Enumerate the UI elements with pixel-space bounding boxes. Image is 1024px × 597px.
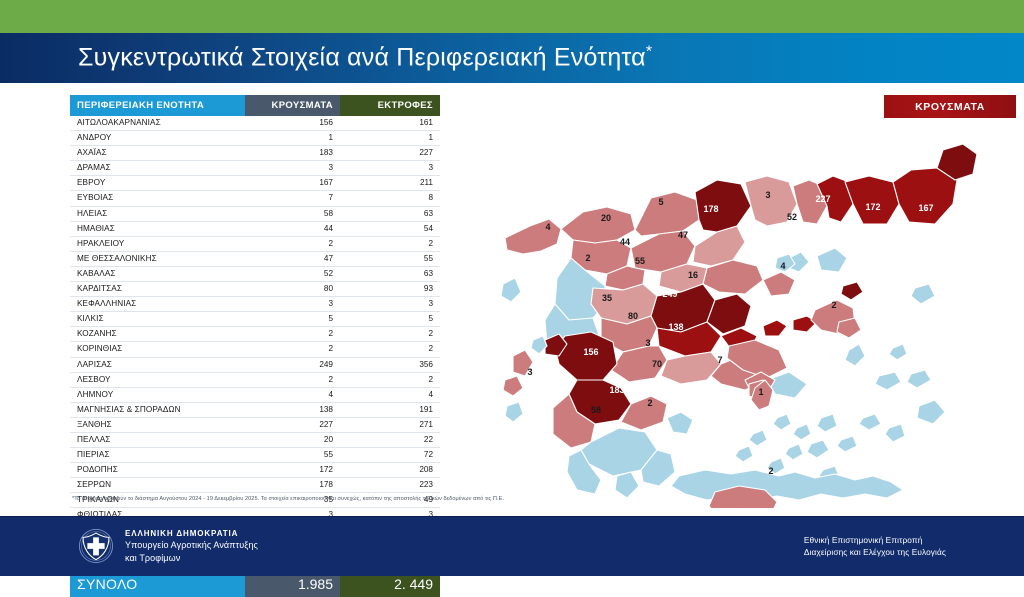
page-header-bar: Συγκεντρωτικά Στοιχεία ανά Περιφερειακή …: [0, 33, 1024, 83]
cell-region-name: ΑΙΤΩΛΟΑΚΑΡΝΑΝΙΑΣ: [70, 116, 245, 131]
cell-region-name: ΚΟΡΙΝΘΙΑΣ: [70, 342, 245, 357]
greece-choropleth-map: 4205178352227172167474455216423524980138…: [445, 88, 1024, 508]
region-attikis[interactable]: [767, 372, 807, 398]
ministry-line1: ΕΛΛΗΝΙΚΗ ΔΗΜΟΚΡΑΤΙΑ: [125, 528, 258, 539]
table-row[interactable]: ΣΕΡΡΩΝ178223: [70, 478, 440, 493]
ministry-line3: και Τροφίμων: [125, 552, 258, 564]
cell-region-name: ΜΑΓΝΗΣΙΑΣ & ΣΠΟΡΑΔΩΝ: [70, 402, 245, 417]
island-kalymnou[interactable]: [859, 414, 881, 430]
cell-cases-value: 55: [245, 448, 340, 463]
cell-farms-value: 8: [340, 191, 440, 206]
cell-region-name: ΔΡΑΜΑΣ: [70, 161, 245, 176]
map-label-value: 4: [545, 222, 550, 232]
map-label-value: 167: [918, 203, 933, 213]
cell-cases-value: 52: [245, 266, 340, 281]
cell-farms-value: 2: [340, 372, 440, 387]
region-evrou[interactable]: [893, 168, 957, 224]
region-kilkis[interactable]: [635, 192, 699, 236]
map-label-value: 3: [527, 367, 532, 377]
page-title-text: Συγκεντρωτικά Στοιχεία ανά Περιφερειακή …: [78, 44, 646, 72]
cell-cases-value: 20: [245, 432, 340, 447]
cell-farms-value: 227: [340, 146, 440, 161]
cell-cases-value: 2: [245, 372, 340, 387]
cell-region-name: ΛΑΡΙΣΑΣ: [70, 357, 245, 372]
cell-cases-value: 2: [245, 327, 340, 342]
table-row[interactable]: ΑΧΑΪΑΣ183227: [70, 146, 440, 161]
table-row[interactable]: ΑΝΔΡΟΥ11: [70, 131, 440, 146]
table-row[interactable]: ΚΑΒΑΛΑΣ5263: [70, 266, 440, 281]
table-row[interactable]: ΚΟΖΑΝΗΣ22: [70, 327, 440, 342]
table-row[interactable]: ΡΟΔΟΠΗΣ172208: [70, 463, 440, 478]
cell-region-name: ΠΕΛΛΑΣ: [70, 432, 245, 447]
island-chiou[interactable]: [845, 344, 865, 366]
map-regions: [501, 144, 977, 508]
header-divider: [0, 83, 1024, 86]
island-small-ne[interactable]: [889, 344, 907, 360]
cell-cases-value: 167: [245, 176, 340, 191]
table-row[interactable]: ΚΑΡΔΙΤΣΑΣ8093: [70, 282, 440, 297]
map-label-value: 7: [717, 355, 722, 365]
footer-top-rule: [0, 516, 1024, 517]
cell-farms-value: 63: [340, 266, 440, 281]
table-row[interactable]: ΜΕ ΘΕΣΣΑΛΟΝΙΚΗΣ4755: [70, 251, 440, 266]
cell-cases-value: 80: [245, 282, 340, 297]
map-label-value: 156: [583, 347, 598, 357]
map-label-value: 80: [628, 311, 638, 321]
island-kerkyras[interactable]: [501, 278, 521, 302]
page-footer: ΕΛΛΗΝΙΚΗ ΔΗΜΟΚΡΑΤΙΑ Υπουργείο Αγροτικής …: [0, 516, 1024, 576]
island-ikarias[interactable]: [907, 370, 931, 388]
island-mykonou[interactable]: [817, 414, 837, 432]
island-amorgou[interactable]: [837, 436, 857, 452]
cell-farms-value: 1: [340, 131, 440, 146]
table-row[interactable]: ΠΕΛΛΑΣ2022: [70, 432, 440, 447]
table-row[interactable]: ΗΛΕΙΑΣ5863: [70, 206, 440, 221]
map-label-value: 20: [601, 213, 611, 223]
cell-farms-value: 63: [340, 206, 440, 221]
cell-farms-value: 2: [340, 327, 440, 342]
committee-line1: Εθνική Επιστημονική Επιτροπή: [804, 534, 946, 546]
cell-cases-value: 4: [245, 387, 340, 402]
cell-cases-value: 58: [245, 206, 340, 221]
map-label-value: 183: [609, 385, 624, 395]
cell-cases-value: 7: [245, 191, 340, 206]
cell-farms-value: 3: [340, 161, 440, 176]
cell-region-name: ΗΡΑΚΛΕΙΟΥ: [70, 236, 245, 251]
table-row[interactable]: ΗΜΑΘΙΑΣ4454: [70, 221, 440, 236]
cell-region-name: ΞΑΝΘΗΣ: [70, 417, 245, 432]
cell-region-name: ΚΟΖΑΝΗΣ: [70, 327, 245, 342]
island-samou[interactable]: [875, 372, 901, 390]
table-header-row: ΠΕΡΙΦΕΡΕΙΑΚΗ ΕΝΟΤΗΤΑ ΚΡΟΥΣΜΑΤΑ ΕΚΤΡΟΦΕΣ: [70, 95, 440, 116]
ministry-line2: Υπουργείο Αγροτικής Ανάπτυξης: [125, 539, 258, 551]
cell-farms-value: 5: [340, 312, 440, 327]
cell-region-name: ΚΙΛΚΙΣ: [70, 312, 245, 327]
island-limnos[interactable]: [817, 248, 847, 272]
map-label-value: 3: [645, 338, 650, 348]
committee-block: Εθνική Επιστημονική Επιτροπή Διαχείρισης…: [804, 534, 946, 559]
cell-farms-value: 2: [340, 342, 440, 357]
cell-cases-value: 5: [245, 312, 340, 327]
top-green-band: [0, 0, 1024, 33]
island-parou[interactable]: [785, 444, 803, 460]
cell-farms-value: 161: [340, 116, 440, 131]
map-label-value: 2: [768, 466, 773, 476]
island-kythnou[interactable]: [749, 430, 767, 446]
cell-farms-value: 211: [340, 176, 440, 191]
region-mani[interactable]: [615, 472, 639, 498]
ministry-block: ΕΛΛΗΝΙΚΗ ΔΗΜΟΚΡΑΤΙΑ Υπουργείο Αγροτικής …: [78, 528, 258, 564]
cell-farms-value: 356: [340, 357, 440, 372]
map-svg: 4205178352227172167474455216423524980138…: [445, 88, 1024, 508]
cell-region-name: ΛΗΜΝΟΥ: [70, 387, 245, 402]
page-title-asterisk: *: [646, 43, 652, 60]
cell-region-name: ΣΕΡΡΩΝ: [70, 478, 245, 493]
region-rodopis[interactable]: [845, 176, 899, 224]
table-row[interactable]: ΑΙΤΩΛΟΑΚΑΡΝΑΝΙΑΣ156161: [70, 116, 440, 131]
table-row[interactable]: ΚΟΡΙΝΘΙΑΣ22: [70, 342, 440, 357]
table-row[interactable]: ΛΕΣΒΟΥ22: [70, 372, 440, 387]
map-label-value: 5: [658, 197, 663, 207]
committee-line2: Διαχείρισης και Ελέγχου της Ευλογιάς: [804, 546, 946, 558]
table-row[interactable]: ΛΗΜΝΟΥ44: [70, 387, 440, 402]
map-label-value: 58: [591, 405, 601, 415]
map-label-value: 2: [831, 300, 836, 310]
hellenic-republic-crest-icon: [78, 528, 114, 564]
map-label-value: 249: [662, 289, 677, 299]
island-rodou[interactable]: [917, 400, 945, 424]
island-small-far-ne[interactable]: [911, 284, 935, 304]
cell-region-name: ΚΕΦΑΛΛΗΝΙΑΣ: [70, 297, 245, 312]
column-header-farms[interactable]: ΕΚΤΡΟΦΕΣ: [340, 95, 440, 116]
table-row[interactable]: ΜΑΓΝΗΣΙΑΣ & ΣΠΟΡΑΔΩΝ138191: [70, 402, 440, 417]
cell-cases-value: 1: [245, 131, 340, 146]
cell-region-name: ΕΥΒΟΙΑΣ: [70, 191, 245, 206]
cell-farms-value: 93: [340, 282, 440, 297]
cell-cases-value: 227: [245, 417, 340, 432]
island-kou[interactable]: [885, 424, 905, 442]
island-serifou[interactable]: [735, 446, 753, 462]
region-fthiotidas-east[interactable]: [661, 352, 721, 384]
cell-farms-value: 271: [340, 417, 440, 432]
cell-farms-value: 191: [340, 402, 440, 417]
map-label-value: 172: [865, 202, 880, 212]
cell-region-name: ΚΑΒΑΛΑΣ: [70, 266, 245, 281]
table-row[interactable]: ΗΡΑΚΛΕΙΟΥ22: [70, 236, 440, 251]
map-label-value: 3: [765, 190, 770, 200]
cell-region-name: ΜΕ ΘΕΣΣΑΛΟΝΙΚΗΣ: [70, 251, 245, 266]
map-label-value: 16: [688, 270, 698, 280]
cell-farms-value: 4: [340, 387, 440, 402]
cell-cases-value: 3: [245, 297, 340, 312]
map-label-value: 44: [620, 237, 630, 247]
map-label-value: 2: [585, 253, 590, 263]
cell-cases-value: 183: [245, 146, 340, 161]
cell-cases-value: 3: [245, 161, 340, 176]
island-kefallinias-south[interactable]: [503, 376, 523, 396]
island-tinou[interactable]: [773, 414, 791, 430]
page-title: Συγκεντρωτικά Στοιχεία ανά Περιφερειακή …: [78, 43, 652, 72]
region-argolidas[interactable]: [667, 412, 693, 434]
map-label-value: 47: [678, 230, 688, 240]
table-row[interactable]: ΕΥΒΟΙΑΣ78: [70, 191, 440, 206]
region-crete-outline[interactable]: [671, 470, 903, 500]
cell-region-name: ΑΧΑΪΑΣ: [70, 146, 245, 161]
island-skiathos[interactable]: [763, 320, 787, 336]
island-thasos[interactable]: [841, 282, 863, 300]
table-row[interactable]: ΚΕΦΑΛΛΗΝΙΑΣ33: [70, 297, 440, 312]
map-label-value: 227: [815, 194, 830, 204]
cell-cases-value: 156: [245, 116, 340, 131]
cell-region-name: ΠΙΕΡΙΑΣ: [70, 448, 245, 463]
cell-farms-value: 54: [340, 221, 440, 236]
region-thessalonikis[interactable]: [693, 226, 745, 266]
cell-farms-value: 55: [340, 251, 440, 266]
cell-farms-value: 223: [340, 478, 440, 493]
cell-farms-value: 3: [340, 297, 440, 312]
cell-cases-value: 138: [245, 402, 340, 417]
map-label-value: 1: [758, 387, 763, 397]
cell-farms-value: 208: [340, 463, 440, 478]
island-naxou[interactable]: [807, 440, 829, 458]
cell-region-name: ΡΟΔΟΠΗΣ: [70, 463, 245, 478]
island-zakynthou[interactable]: [505, 402, 523, 422]
cell-cases-value: 249: [245, 357, 340, 372]
island-syrou[interactable]: [793, 424, 811, 440]
table-row[interactable]: ΚΙΛΚΙΣ55: [70, 312, 440, 327]
cell-cases-value: 2: [245, 342, 340, 357]
map-label-value: 70: [652, 359, 662, 369]
table-row[interactable]: ΠΙΕΡΙΑΣ5572: [70, 448, 440, 463]
region-florinas[interactable]: [505, 219, 561, 254]
map-label-value: 138: [668, 322, 683, 332]
region-chalkidiki-peninsula[interactable]: [763, 272, 795, 296]
table-row[interactable]: ΕΒΡΟΥ167211: [70, 176, 440, 191]
cell-cases-value: 47: [245, 251, 340, 266]
column-header-cases[interactable]: ΚΡΟΥΣΜΑΤΑ: [245, 95, 340, 116]
cell-region-name: ΕΒΡΟΥ: [70, 176, 245, 191]
cell-cases-value: 44: [245, 221, 340, 236]
map-label-value: 4: [780, 261, 785, 271]
cell-region-name: ΗΛΕΙΑΣ: [70, 206, 245, 221]
map-label-value: 35: [602, 293, 612, 303]
cell-farms-value: 2: [340, 236, 440, 251]
map-label-value: 55: [635, 256, 645, 266]
map-label-value: 52: [787, 212, 797, 222]
table-row[interactable]: ΞΑΝΘΗΣ227271: [70, 417, 440, 432]
cell-farms-value: 22: [340, 432, 440, 447]
cell-region-name: ΑΝΔΡΟΥ: [70, 131, 245, 146]
table-row[interactable]: ΛΑΡΙΣΑΣ249356: [70, 357, 440, 372]
column-header-region[interactable]: ΠΕΡΙΦΕΡΕΙΑΚΗ ΕΝΟΤΗΤΑ: [70, 95, 245, 116]
cell-region-name: ΚΑΡΔΙΤΣΑΣ: [70, 282, 245, 297]
cell-region-name: ΗΜΑΘΙΑΣ: [70, 221, 245, 236]
cell-farms-value: 72: [340, 448, 440, 463]
cell-cases-value: 2: [245, 236, 340, 251]
map-label-value: 178: [703, 204, 718, 214]
map-label-value: 2: [647, 398, 652, 408]
cell-cases-value: 178: [245, 478, 340, 493]
cell-region-name: ΛΕΣΒΟΥ: [70, 372, 245, 387]
ministry-text: ΕΛΛΗΝΙΚΗ ΔΗΜΟΚΡΑΤΙΑ Υπουργείο Αγροτικής …: [125, 528, 258, 564]
infographic-page: Συγκεντρωτικά Στοιχεία ανά Περιφερειακή …: [0, 0, 1024, 576]
cell-cases-value: 172: [245, 463, 340, 478]
table-row[interactable]: ΔΡΑΜΑΣ33: [70, 161, 440, 176]
